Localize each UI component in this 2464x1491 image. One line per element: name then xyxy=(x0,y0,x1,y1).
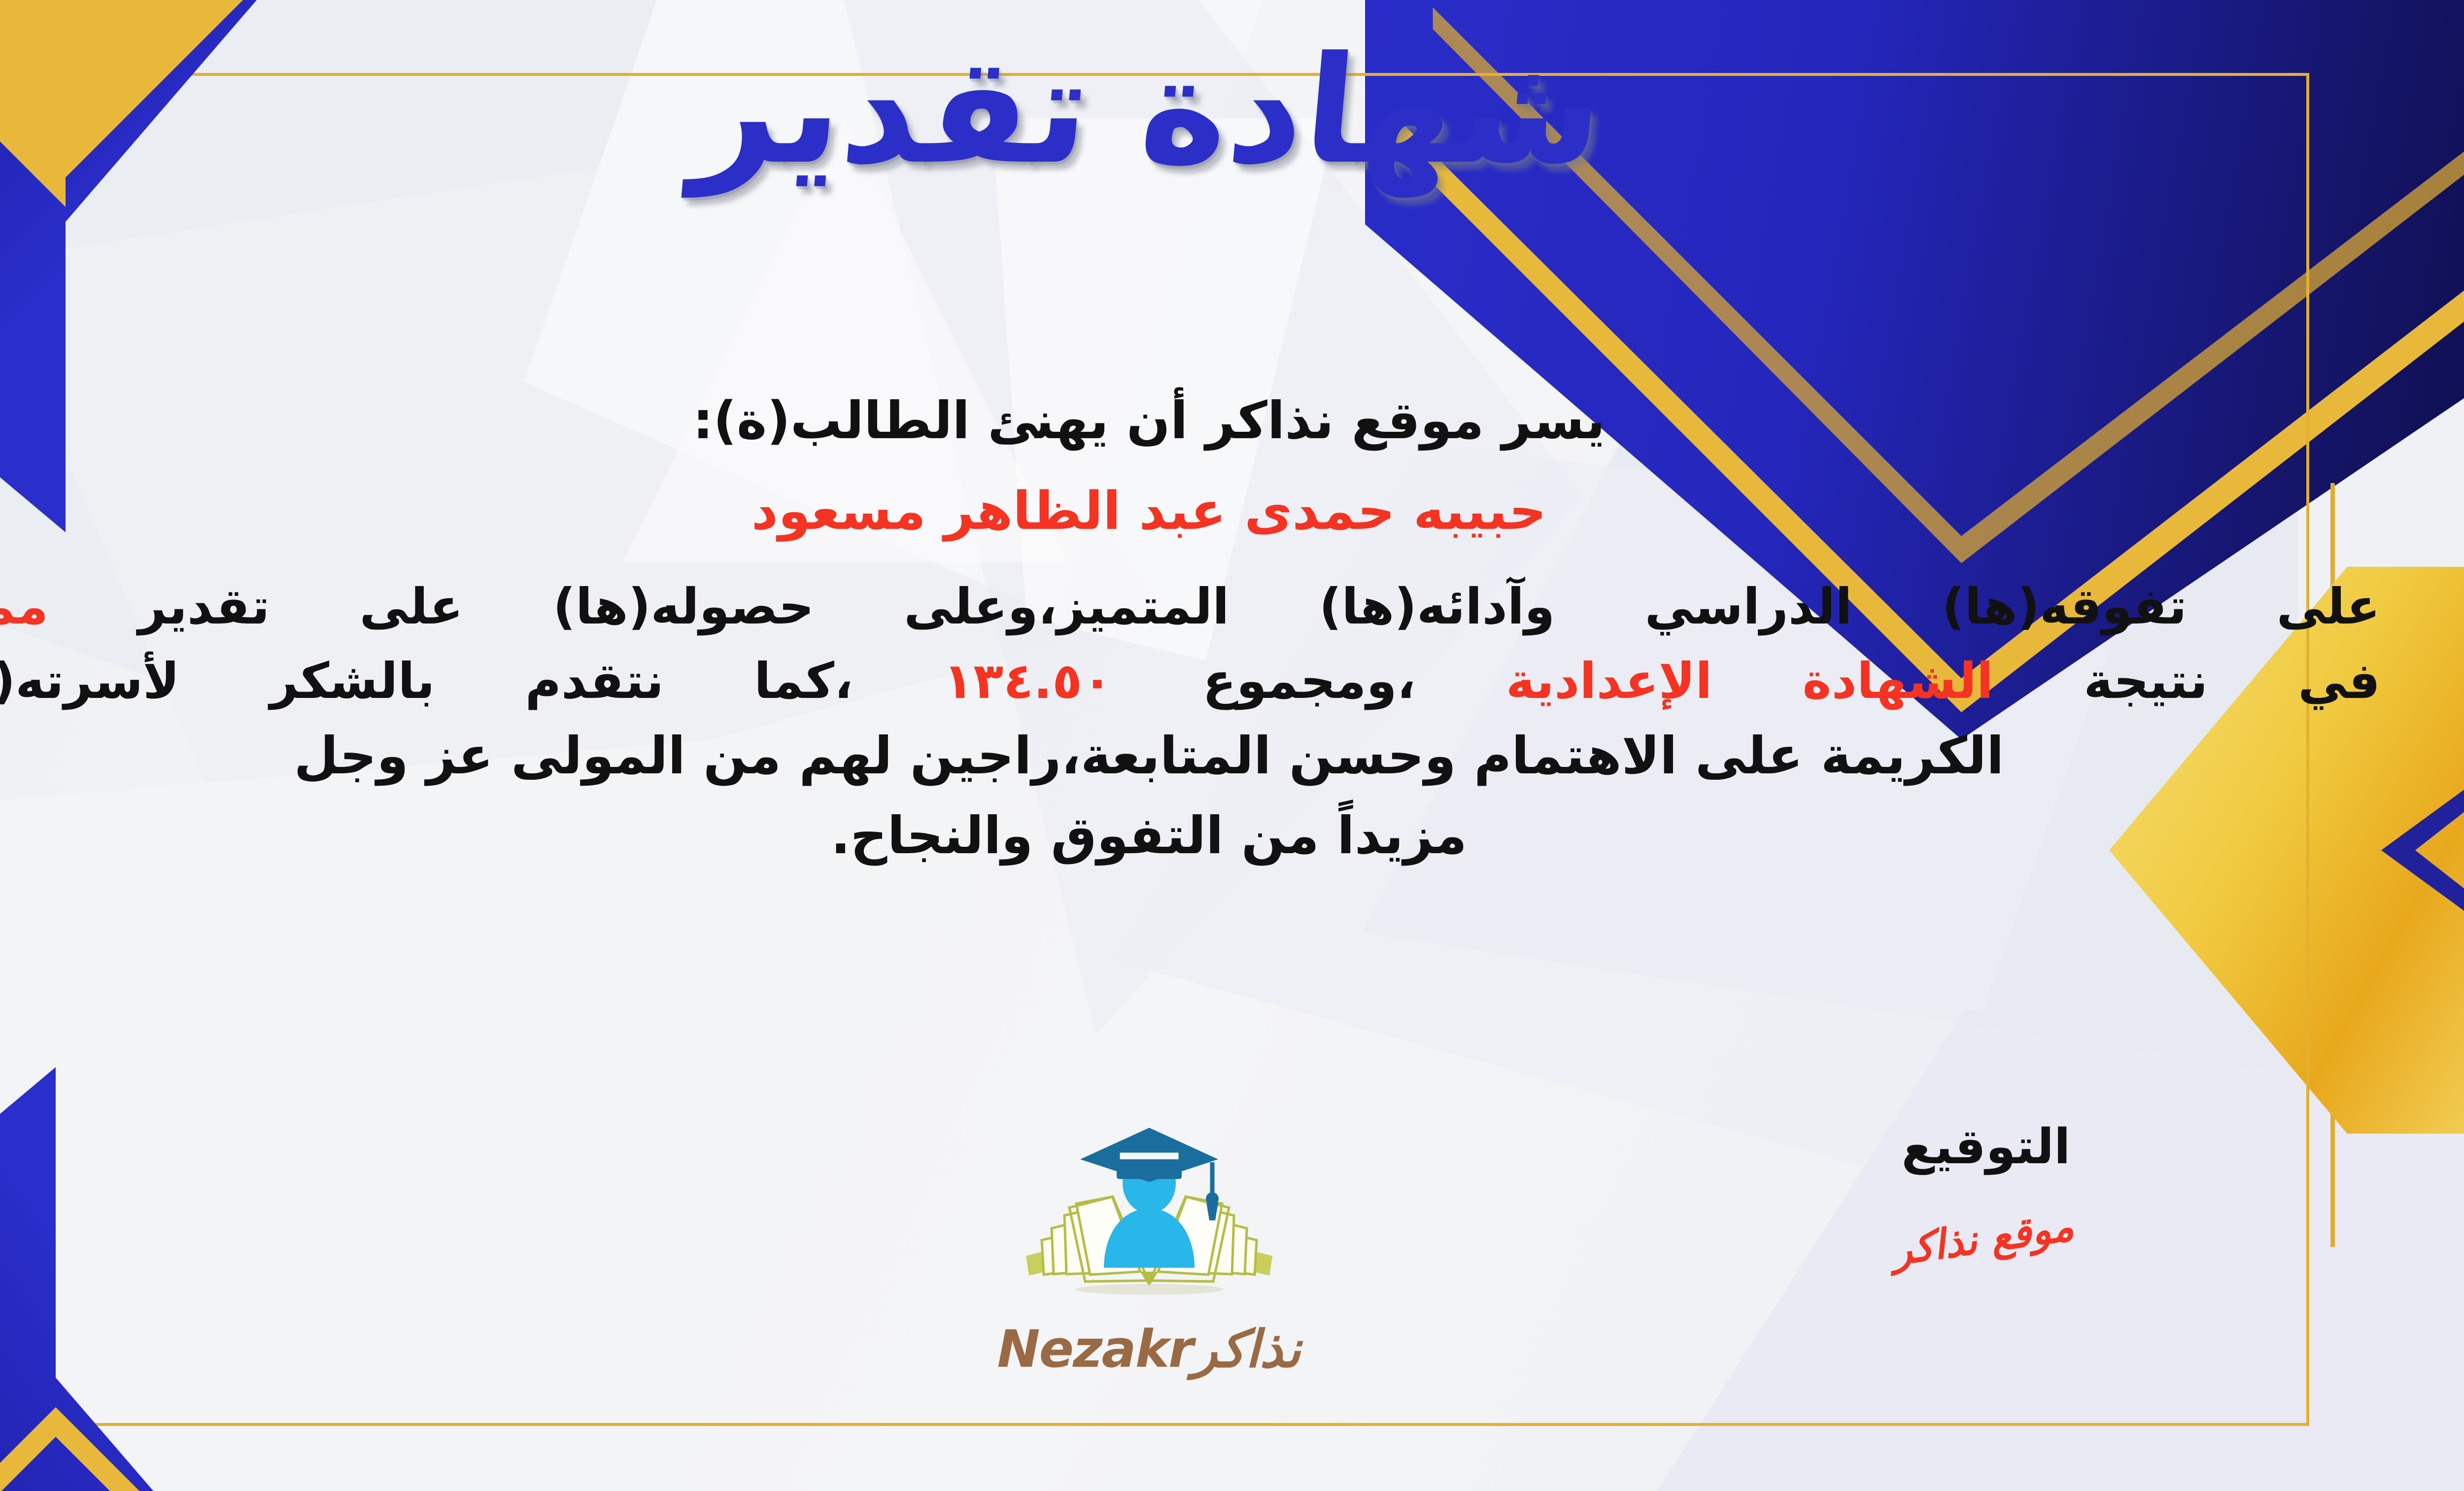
body-line-1: على تفوقه(ها) الدراسي وآدائه(ها) المتميز… xyxy=(0,571,2380,642)
brand-wordmark: Nezakrنذاكر xyxy=(947,1319,1351,1379)
body-line-4: مزيداً من التفوق والنجاح. xyxy=(0,799,2380,872)
body-line-2-suffix: ،كما نتقدم بالشكر لأسرته(ها) xyxy=(0,652,853,710)
exam-name: الشهادة الإعدادية xyxy=(1506,652,1993,710)
graduation-book-icon xyxy=(1011,1124,1287,1316)
signature-label: التوقيع xyxy=(1833,1119,2139,1175)
student-name: حبيبه حمدى عبد الظاهر مسعود xyxy=(0,474,2380,549)
body-line-2-mid: ،ومجموع xyxy=(1202,652,1415,710)
certificate-title: شهادة تقدير xyxy=(0,30,2464,192)
body-line-2: في نتيجة الشهادة الإعدادية ،ومجموع ١٣٤.٥… xyxy=(0,645,2380,717)
brand-arabic: نذاكر xyxy=(1193,1319,1300,1379)
certificate-canvas: شهادة تقدير يسر موقع نذاكر أن يهنئ الطال… xyxy=(0,0,2464,1491)
brand-latin: Nezakr xyxy=(997,1319,1193,1379)
certificate-body: يسر موقع نذاكر أن يهنئ الطالب(ة): حبيبه … xyxy=(0,384,2380,879)
total-score: ١٣٤.٥٠ xyxy=(943,652,1112,710)
body-line-2-prefix: في نتيجة xyxy=(2084,652,2380,710)
body-line-3: الكريمة على الاهتمام وحسن المتابعة،راجين… xyxy=(0,720,2380,793)
body-line-1-text: على تفوقه(ها) الدراسي وآدائه(ها) المتميز… xyxy=(138,578,2380,635)
greeting-line: يسر موقع نذاكر أن يهنئ الطالب(ة): xyxy=(0,384,2380,457)
brand-logo: Nezakrنذاكر xyxy=(947,1124,1351,1379)
signature-block: التوقيع موقع نذاكر xyxy=(1833,1119,2139,1262)
grade-value: ممتاز xyxy=(0,578,48,635)
